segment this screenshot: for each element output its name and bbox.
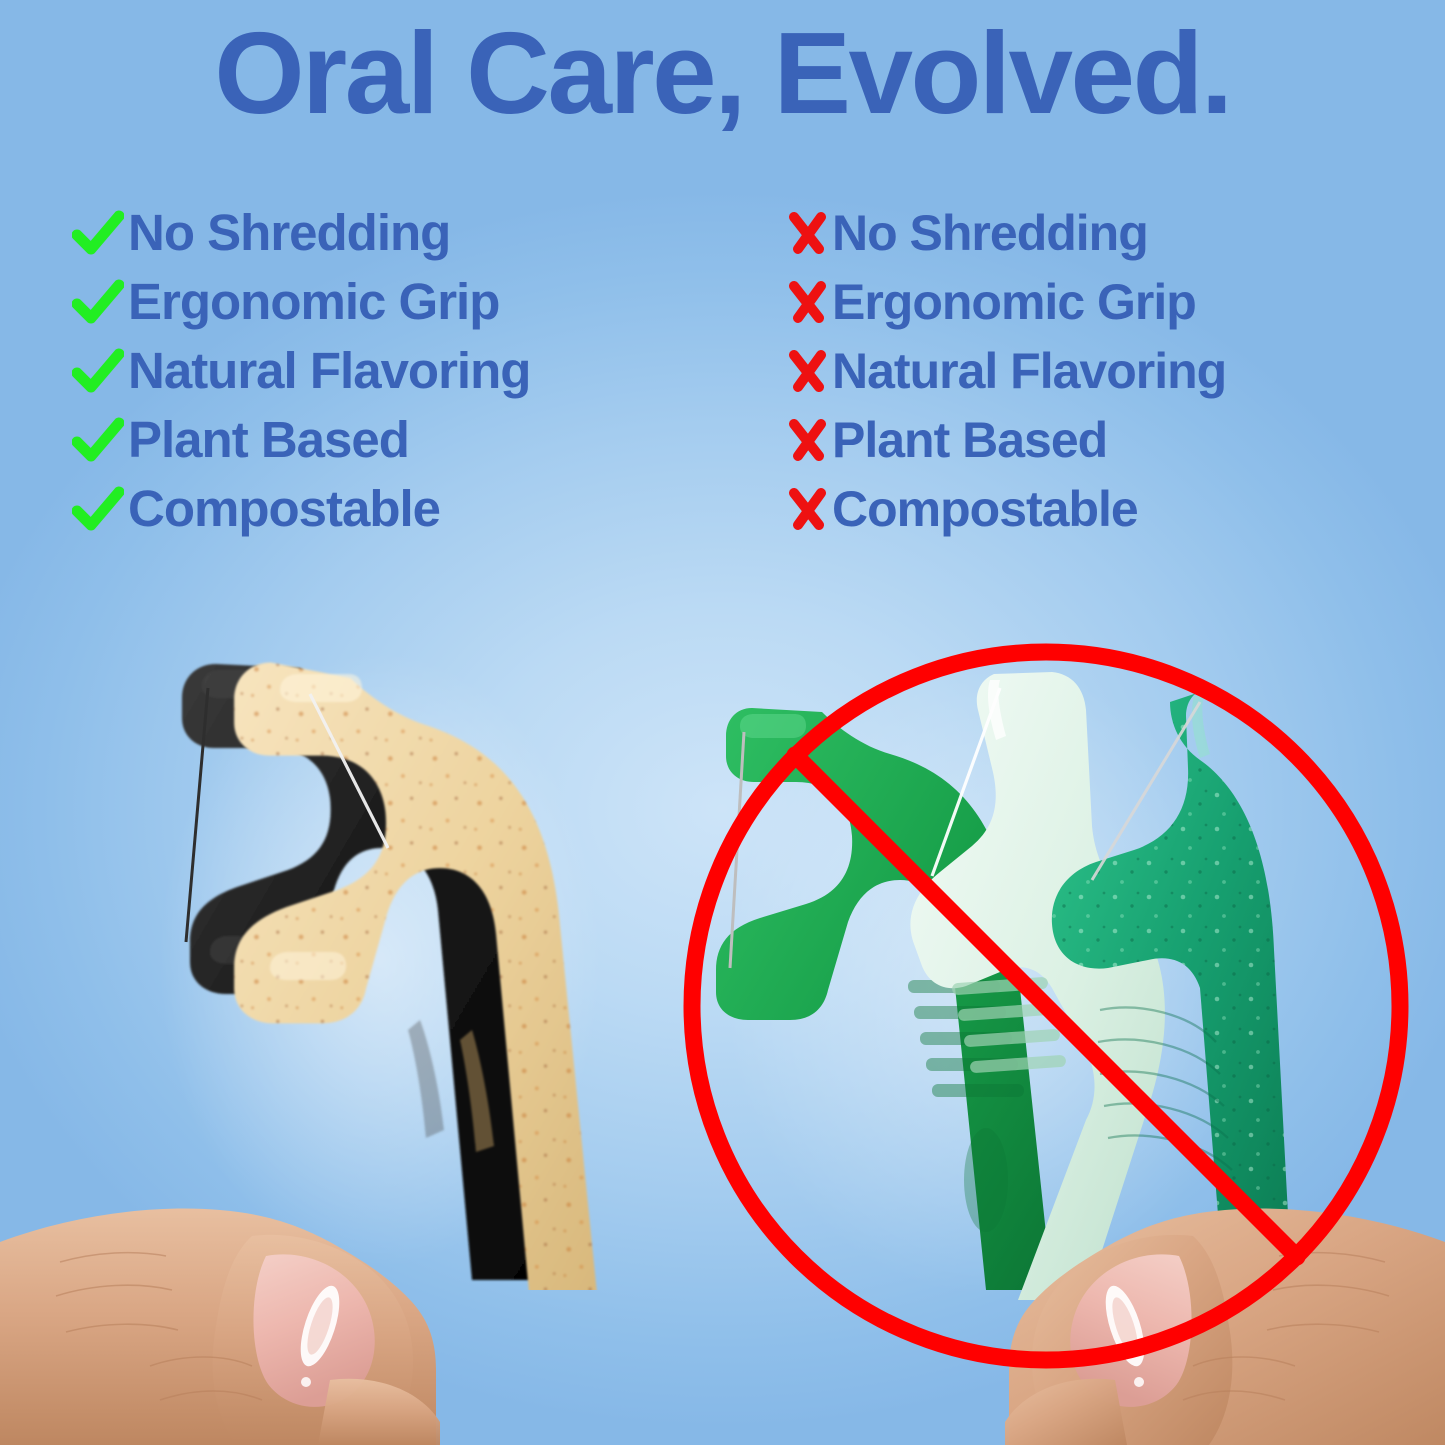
check-icon [72, 348, 128, 394]
page-title: Oral Care, Evolved. [0, 12, 1445, 135]
cross-icon [786, 348, 832, 394]
feature-row: Plant Based [72, 405, 762, 474]
feature-row: Natural Flavoring [72, 336, 762, 405]
feature-row: Ergonomic Grip [72, 267, 762, 336]
cross-icon [786, 279, 832, 325]
hand-holding-bad-products [1005, 1209, 1445, 1445]
cross-icon [786, 486, 832, 532]
hand-holding-good-products [0, 1209, 440, 1445]
feature-row: Ergonomic Grip [786, 267, 1445, 336]
feature-label: Natural Flavoring [128, 345, 530, 396]
feature-label: Ergonomic Grip [128, 276, 499, 327]
feature-label: Compostable [832, 484, 1138, 534]
feature-row: Natural Flavoring [786, 336, 1445, 405]
feature-label: Natural Flavoring [832, 346, 1226, 396]
feature-row: No Shredding [72, 198, 762, 267]
check-icon [72, 210, 128, 256]
good-feature-column: No Shredding Ergonomic Grip Natural Flav… [72, 198, 762, 543]
infographic-canvas: Oral Care, Evolved. [0, 0, 1445, 1445]
check-icon [72, 486, 128, 532]
feature-label: No Shredding [832, 208, 1148, 258]
feature-label: Plant Based [128, 414, 409, 465]
feature-label: No Shredding [128, 207, 450, 258]
feature-row: Plant Based [786, 405, 1445, 474]
feature-row: Compostable [786, 474, 1445, 543]
feature-label: Plant Based [832, 415, 1107, 465]
feature-label: Compostable [128, 483, 440, 534]
feature-row: No Shredding [786, 198, 1445, 267]
feature-label: Ergonomic Grip [832, 277, 1196, 327]
check-icon [72, 279, 128, 325]
cross-icon [786, 417, 832, 463]
bad-feature-column: No Shredding Ergonomic Grip Natural Flav… [786, 198, 1445, 543]
check-icon [72, 417, 128, 463]
cross-icon [786, 210, 832, 256]
feature-row: Compostable [72, 474, 762, 543]
hands-group [0, 1130, 1445, 1445]
